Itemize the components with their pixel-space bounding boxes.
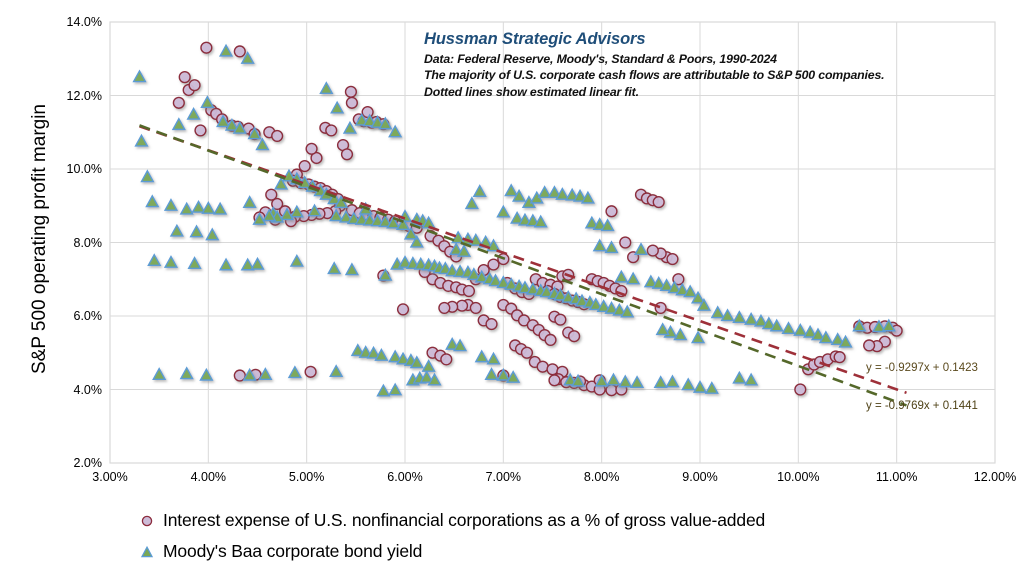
data-point-triangle: [346, 264, 358, 275]
data-point-triangle: [171, 225, 183, 236]
data-point-triangle: [505, 185, 517, 196]
data-point-triangle: [289, 367, 301, 378]
data-point-triangle: [608, 374, 620, 385]
data-point-triangle: [706, 383, 718, 394]
data-point-triangle: [655, 377, 667, 388]
data-point-triangle: [153, 369, 165, 380]
data-point-circle: [470, 303, 481, 314]
data-point-circle: [655, 303, 666, 314]
data-point-circle: [234, 46, 245, 57]
data-point-circle: [667, 254, 678, 265]
data-point-triangle: [674, 329, 686, 340]
trendline-equation-baa-yield: y = -0.9769x + 0.1441: [866, 400, 978, 412]
data-point-circle: [306, 143, 317, 154]
data-point-circle: [439, 303, 450, 314]
data-point-triangle: [682, 379, 694, 390]
data-point-triangle: [486, 369, 498, 380]
data-point-circle: [620, 237, 631, 248]
data-point-triangle: [712, 307, 724, 318]
data-point-triangle: [165, 200, 177, 211]
annotation-line-3: Dotted lines show estimated linear fit.: [424, 84, 984, 100]
data-point-triangle: [244, 197, 256, 208]
data-point-triangle: [191, 226, 203, 237]
data-point-triangle: [615, 271, 627, 282]
triangle-marker-icon: [140, 545, 154, 559]
data-point-triangle: [328, 263, 340, 274]
data-point-triangle: [377, 385, 389, 396]
data-point-triangle: [619, 376, 631, 387]
data-point-circle: [398, 304, 409, 315]
data-point-triangle: [200, 369, 212, 380]
data-point-triangle: [631, 377, 643, 388]
data-point-circle: [347, 97, 358, 108]
legend-label-interest-expense: Interest expense of U.S. nonfinancial co…: [163, 510, 765, 531]
annotation-title: Hussman Strategic Advisors: [424, 30, 984, 49]
data-point-triangle: [189, 258, 201, 269]
data-point-triangle: [594, 240, 606, 251]
data-point-circle: [299, 161, 310, 172]
data-point-circle: [834, 352, 845, 363]
chart-legend: Interest expense of U.S. nonfinancial co…: [140, 505, 765, 567]
data-point-triangle: [667, 376, 679, 387]
data-point-triangle: [745, 313, 757, 324]
data-point-circle: [342, 149, 353, 160]
data-point-circle: [346, 86, 357, 97]
data-point-circle: [537, 361, 548, 372]
data-point-triangle: [181, 203, 193, 214]
data-point-triangle: [497, 206, 509, 217]
data-point-triangle: [320, 83, 332, 94]
data-point-triangle: [202, 202, 214, 213]
data-point-triangle: [165, 257, 177, 268]
data-point-triangle: [783, 323, 795, 334]
data-point-triangle: [745, 374, 757, 385]
trendline-equation-interest-expense: y = -0.9297x + 0.1423: [866, 362, 978, 374]
data-point-triangle: [214, 203, 226, 214]
data-point-triangle: [692, 332, 704, 343]
data-point-triangle: [488, 353, 500, 364]
data-point-triangle: [722, 310, 734, 321]
data-point-circle: [555, 314, 566, 325]
data-point-triangle: [476, 351, 488, 362]
data-point-circle: [441, 354, 452, 365]
data-point-circle: [179, 72, 190, 83]
data-point-triangle: [694, 381, 706, 392]
data-point-triangle: [173, 119, 185, 130]
data-point-circle: [569, 331, 580, 342]
legend-label-baa-yield: Moody's Baa corporate bond yield: [163, 541, 422, 562]
data-point-triangle: [136, 135, 148, 146]
data-point-triangle: [423, 361, 435, 372]
data-point-triangle: [657, 324, 669, 335]
annotation-line-1: Data: Federal Reserve, Moody's, Standard…: [424, 51, 984, 67]
data-point-triangle: [134, 71, 146, 82]
data-point-triangle: [330, 366, 342, 377]
data-point-triangle: [733, 312, 745, 323]
data-point-triangle: [452, 232, 464, 243]
data-point-circle: [362, 107, 373, 118]
circle-marker-icon: [140, 514, 154, 528]
data-point-triangle: [635, 244, 647, 255]
data-point-triangle: [141, 171, 153, 182]
scatter-chart: S&P 500 operating profit margin 2.0%4.0%…: [0, 0, 1024, 576]
data-point-triangle: [181, 368, 193, 379]
data-point-circle: [195, 125, 206, 136]
data-point-circle: [795, 384, 806, 395]
data-point-circle: [647, 245, 658, 256]
data-point-triangle: [220, 259, 232, 270]
data-point-triangle: [146, 196, 158, 207]
data-point-triangle: [344, 122, 356, 133]
data-point-triangle: [733, 372, 745, 383]
data-point-circle: [272, 131, 283, 142]
annotation-line-2: The majority of U.S. corporate cash flow…: [424, 67, 984, 83]
data-point-circle: [189, 80, 200, 91]
legend-item-baa-yield[interactable]: Moody's Baa corporate bond yield: [140, 536, 765, 567]
data-point-triangle: [606, 242, 618, 253]
data-point-triangle: [466, 198, 478, 209]
data-point-triangle: [148, 255, 160, 266]
data-point-circle: [326, 125, 337, 136]
data-point-circle: [201, 42, 212, 53]
data-point-circle: [173, 97, 184, 108]
data-point-triangle: [794, 325, 806, 336]
data-point-triangle: [627, 273, 639, 284]
data-point-circle: [464, 286, 475, 297]
data-point-circle: [486, 319, 497, 330]
data-point-triangle: [331, 102, 343, 113]
data-point-circle: [653, 197, 664, 208]
data-point-circle: [545, 334, 556, 345]
data-point-circle: [547, 364, 558, 375]
data-point-triangle: [291, 255, 303, 266]
data-point-triangle: [201, 97, 213, 108]
data-point-circle: [305, 366, 316, 377]
data-point-circle: [266, 189, 277, 200]
data-point-circle: [549, 375, 560, 386]
data-point-triangle: [220, 45, 232, 56]
data-point-triangle: [257, 139, 269, 150]
annotation-block: Hussman Strategic Advisors Data: Federal…: [424, 30, 984, 100]
data-point-circle: [457, 300, 468, 311]
legend-item-interest-expense[interactable]: Interest expense of U.S. nonfinancial co…: [140, 505, 765, 536]
data-point-triangle: [193, 201, 205, 212]
data-point-circle: [606, 206, 617, 217]
data-point-circle: [864, 340, 875, 351]
data-point-circle: [488, 259, 499, 270]
data-point-triangle: [474, 186, 486, 197]
data-point-triangle: [252, 258, 264, 269]
data-point-circle: [522, 347, 533, 358]
data-point-triangle: [188, 108, 200, 119]
